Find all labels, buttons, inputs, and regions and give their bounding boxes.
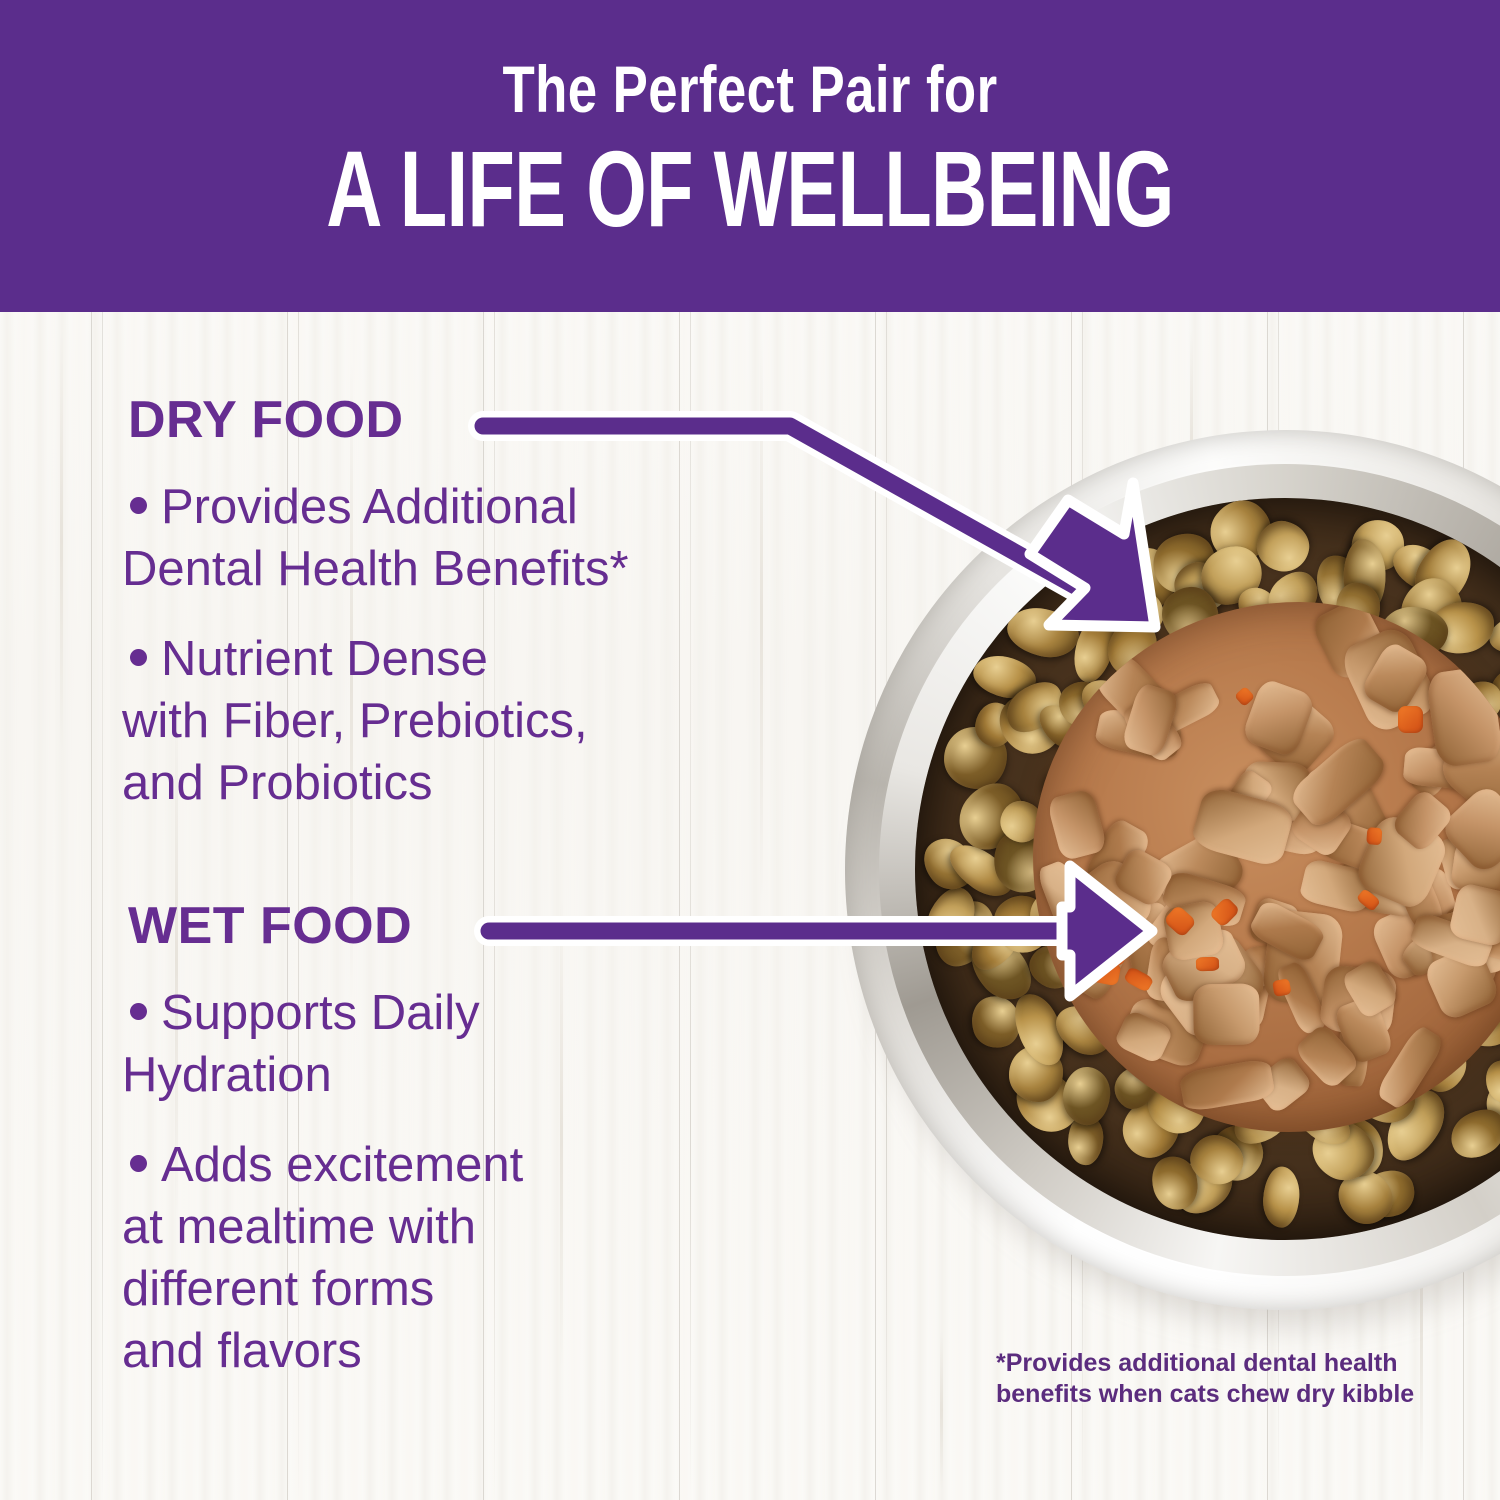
list-item-line: Dental Health Benefits*: [122, 542, 629, 596]
list-item: Provides AdditionalDental Health Benefit…: [122, 476, 812, 600]
list-item: Adds excitementat mealtime withdifferent…: [122, 1134, 812, 1382]
list-item-line: Supports Daily: [161, 986, 480, 1040]
bullet-dot-icon: [130, 649, 147, 666]
advertisement-canvas: The Perfect Pair for A LIFE OF WELLBEING…: [0, 0, 1500, 1500]
list-item-line: Provides Additional: [161, 480, 578, 534]
list-item-line: Adds excitement: [161, 1138, 523, 1192]
footnote-line-2: benefits when cats chew dry kibble: [996, 1379, 1416, 1410]
list-item: Nutrient Densewith Fiber, Prebiotics,and…: [122, 628, 812, 814]
list-item: Supports DailyHydration: [122, 982, 812, 1106]
section-dry-food: DRY FOOD Provides AdditionalDental Healt…: [122, 392, 812, 814]
list-item-line: and flavors: [122, 1324, 362, 1378]
list-item-line: at mealtime with: [122, 1200, 476, 1254]
footnote: *Provides additional dental health benef…: [996, 1348, 1416, 1410]
section-heading-dry-food: DRY FOOD: [128, 392, 812, 448]
section-heading-wet-food: WET FOOD: [128, 898, 812, 954]
bullet-list-dry-food: Provides AdditionalDental Health Benefit…: [122, 476, 812, 814]
bullet-dot-icon: [130, 497, 147, 514]
list-item-line: and Probiotics: [122, 756, 433, 810]
footnote-line-1: *Provides additional dental health: [996, 1348, 1416, 1379]
bullet-list-wet-food: Supports DailyHydration Adds excitementa…: [122, 982, 812, 1382]
bullet-dot-icon: [130, 1003, 147, 1020]
list-item-line: Nutrient Dense: [161, 632, 488, 686]
list-item-line: with Fiber, Prebiotics,: [122, 694, 588, 748]
benefits-copy: DRY FOOD Provides AdditionalDental Healt…: [122, 392, 812, 1382]
section-wet-food: WET FOOD Supports DailyHydration Adds ex…: [122, 898, 812, 1382]
bullet-dot-icon: [130, 1155, 147, 1172]
list-item-line: Hydration: [122, 1048, 332, 1102]
list-item-line: different forms: [122, 1262, 434, 1316]
